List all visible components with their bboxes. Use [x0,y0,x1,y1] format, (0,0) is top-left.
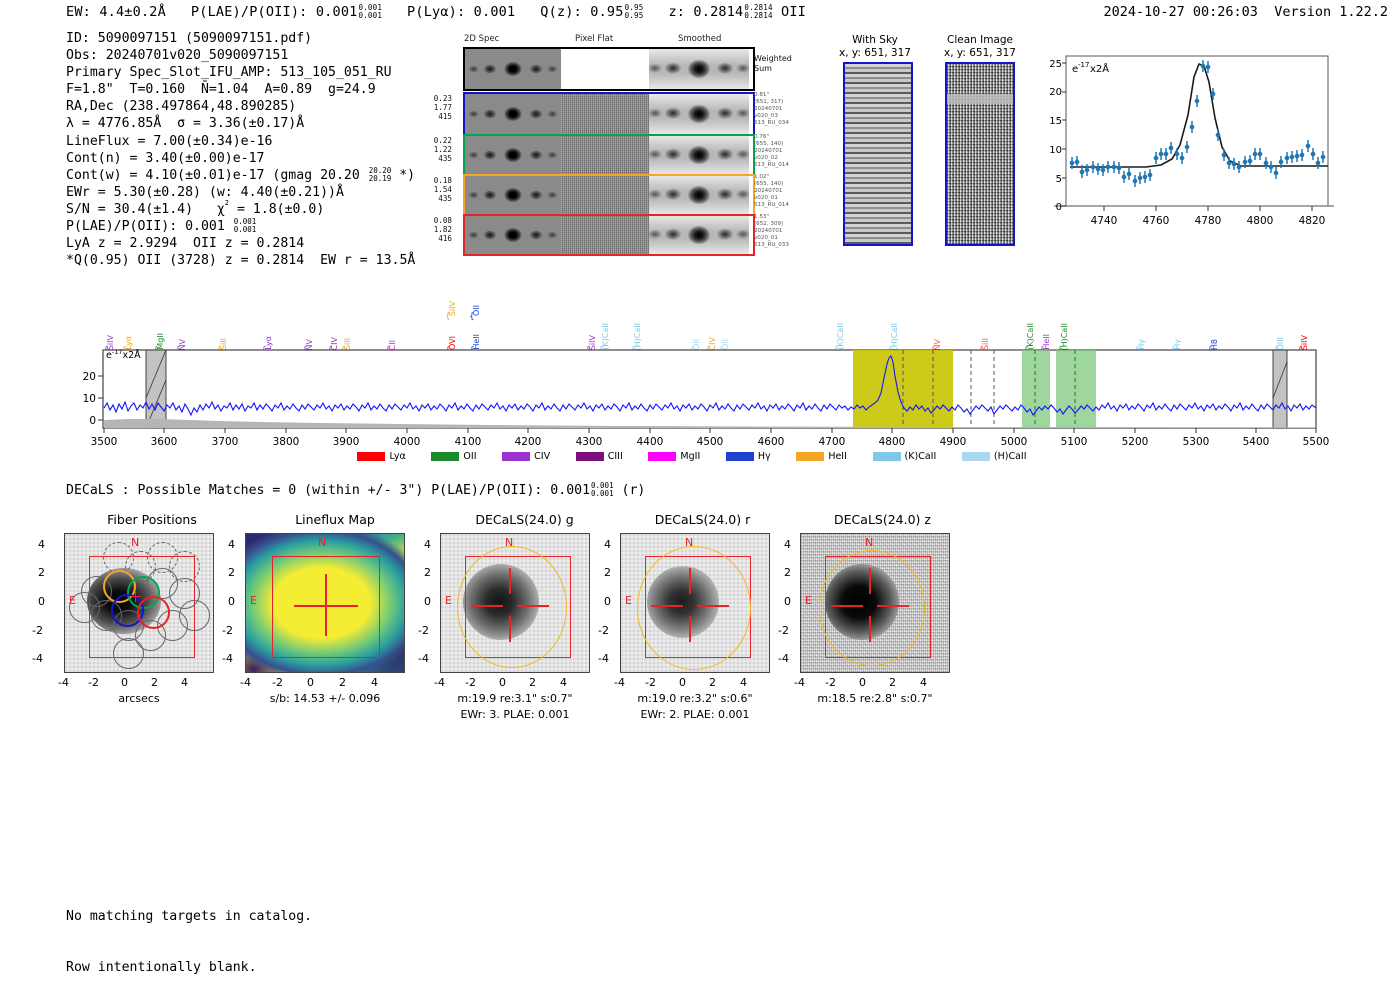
version-label: Version 1.22.2 [1274,4,1388,20]
x-tick: 2 [529,676,536,689]
fiber-circle [179,600,210,631]
info-lambda: λ = 4776.85Å σ = 3.36(±0.17)Å [66,115,415,132]
fiber-left-metrics: 0.08 1.82 416 [412,216,452,244]
y-tick: -2 [778,624,789,637]
legend-item: CIII [576,451,623,462]
legend-item: (K)CaII [873,451,937,462]
fiber-smoothed [649,216,749,254]
panel-caption: m:19.9 re:3.1" s:0.7" [435,692,595,705]
legend-item: HeII [796,451,847,462]
z-label: z: [668,4,685,20]
panel-title-lineflux-map: Lineflux Map [245,512,425,527]
north-label: N [865,536,873,549]
ew-value: 4.4±0.2Å [99,4,166,20]
qz-value: 0.95 [590,4,623,20]
full-spectrum-section: SiIV { Lyα { MgII { NV { SiII { Lyα { NV… [0,270,1400,470]
legend-swatch-oii [431,452,459,461]
x-tick: -2 [825,676,836,689]
east-label: E [250,594,257,607]
fiber-circle-selected-red [137,596,170,629]
weighted-sum-2d-spec [465,49,561,89]
legend-item: Lyα [357,451,405,462]
svg-text:0: 0 [89,415,96,427]
x-tick: 2 [339,676,346,689]
legend-swatch-kcaii [873,452,901,461]
panel-title-decals-r: DECaLS(24.0) r [610,512,795,527]
panel-caption: s/b: 14.53 +/- 0.096 [245,692,405,705]
line-fit-svg: 25 20 15 10 5 0 47404760 47804800 4820 e… [1036,52,1336,242]
y-tick: 0 [424,595,431,608]
x-tick: 2 [709,676,716,689]
center-crosshair-top [869,568,871,594]
legend-swatch-civ [502,452,530,461]
info-obs: Obs: 20240701v020_5090097151 [66,47,415,64]
x-tick: -2 [645,676,656,689]
svg-text:4760: 4760 [1143,215,1170,227]
y-tick: -4 [598,652,609,665]
plya-value: 0.001 [474,4,516,20]
aperture-ellipse [637,546,751,670]
plya-label: P(Lyα): [407,4,465,20]
x-tick: -4 [58,676,69,689]
panel-caption-secondary: EWr: 2. PLAE: 0.001 [615,708,775,721]
fiber-left-metrics: 0.22 1.22 435 [412,136,452,164]
clean-image-cutout [945,62,1015,246]
fiber-pixel-flat [561,94,649,134]
y-tick: -2 [418,624,429,637]
info-q-solution: *Q(0.95) OII (3728) z = 0.2814 EW r = 13… [66,252,415,269]
north-label: N [505,536,513,549]
x-tick: -4 [794,676,805,689]
x-tick: -2 [272,676,283,689]
fiber-row [463,92,755,136]
fiber-smoothed [649,176,749,214]
fiber-pixel-flat [561,216,649,254]
aperture-ellipse [819,550,925,666]
x-tick: 2 [889,676,896,689]
weighted-sum-label: Weighted Sum [754,54,814,74]
center-crosshair-bottom [689,616,691,642]
info-lineflux: LineFlux = 7.00(±0.34)e-16 [66,133,415,150]
z-species: OII [781,4,806,20]
emission-line-labels: SiIV { Lyα { MgII { NV { SiII { Lyα { NV… [0,270,1400,356]
qz-lo: 0.95 [625,12,644,20]
svg-text:4820: 4820 [1299,215,1326,227]
fiber-row [463,214,755,256]
cont-w-pre: Cont(w) = 4.10(±0.01)e-17 (gmag 20.20 [66,168,368,183]
panel-caption-secondary: EWr: 3. PLAE: 0.001 [435,708,595,721]
panel-title-decals-g: DECaLS(24.0) g [432,512,617,527]
east-label: E [805,594,812,607]
decals-g-image[interactable]: N E [440,533,590,673]
with-sky-title: With Sky x, y: 651, 317 [820,34,930,59]
col-header-2d-spec: 2D Spec [464,34,499,44]
legend-item: MgII [648,451,700,462]
info-redshifts: LyA z = 2.9294 OII z = 0.2814 [66,235,415,252]
fiber-left-metrics: 0.18 1.54 435 [412,176,452,204]
fiber-right-metadata: 1.02" (655, 140) 20240701 v020_01 513_RU… [754,174,806,209]
center-crosshair-left [471,605,503,607]
timestamp: 2024-10-27 00:26:03 [1104,4,1258,20]
y-tick: -4 [778,652,789,665]
legend-swatch-ciii [576,452,604,461]
svg-text:5: 5 [1056,174,1062,185]
center-crosshair-v [135,592,136,602]
y-tick: -2 [222,624,233,637]
panel-title-decals-z: DECaLS(24.0) z [790,512,975,527]
north-label: N [685,536,693,549]
fiber-right-metadata: 1.53" (652, 309) 20240701 v020_01 513_RU… [754,214,806,249]
x-tick: 4 [181,676,188,689]
legend-swatch-lya [357,452,385,461]
y-tick: 2 [228,566,235,579]
with-sky-cutout [843,62,913,246]
info-plae-lo: 0.001 [234,226,257,234]
x-tick: 0 [499,676,506,689]
plae-label: P(LAE)/P(OII): [191,4,308,20]
footer-line-1: No matching targets in catalog. [66,908,312,925]
decals-z-image[interactable]: N E [800,533,950,673]
x-tick: 0 [679,676,686,689]
x-tick: 0 [859,676,866,689]
fiber-right-metadata: 0.81" (651, 317) 20240701 v020_03 513_RU… [754,92,806,127]
y-tick: -4 [32,652,43,665]
weighted-sum-row [463,47,755,91]
legend-item: (H)CaII [962,451,1027,462]
x-tick: 4 [371,676,378,689]
sn-pre: S/N = 30.4(±1.4) χ [66,202,225,217]
info-plae-pre: P(LAE)/P(OII): 0.001 [66,219,233,234]
y-tick: 2 [38,566,45,579]
info-cont-w: Cont(w) = 4.10(±0.01)e-17 (gmag 20.20 20… [66,167,415,184]
line-brace: { [469,312,475,322]
clean-image-band [947,94,1013,104]
y-tick: 2 [784,566,791,579]
x-tick: 0 [121,676,128,689]
svg-text:10: 10 [83,393,96,405]
east-label: E [625,594,632,607]
y-tick: 4 [604,538,611,551]
decals-r-image[interactable]: N E [620,533,770,673]
footer-text: No matching targets in catalog. Row inte… [66,874,312,994]
fiber-row [463,134,755,176]
center-crosshair-right [517,605,549,607]
col-header-smoothed: Smoothed [678,34,721,44]
fiber-2d-spec [465,216,561,254]
y-tick: 0 [38,595,45,608]
info-sn: S/N = 30.4(±1.4) χ2 = 1.8(±0.0) [66,201,415,218]
header-summary-line: EW: 4.4±0.2Å P(LAE)/P(OII): 0.0010.0010.… [66,4,806,20]
svg-text:20: 20 [1049,87,1062,98]
full-spectrum-chart: 01020 [60,348,1340,458]
fiber-2d-spec [465,94,561,134]
svg-text:x2Å: x2Å [1090,62,1109,75]
y-tick: -2 [32,624,43,637]
clean-image-title: Clean Image x, y: 651, 317 [920,34,1040,59]
spectrum-flux-unit-annotation: e-17x2Å [106,348,141,361]
z-value: 0.2814 [693,4,743,20]
center-crosshair-bottom [869,616,871,642]
svg-text:-17: -17 [1078,61,1089,69]
aperture-ellipse [457,546,567,668]
weighted-sum-pixel-flat [561,49,649,89]
center-crosshair-left [831,605,863,607]
panel-title-fiber-positions: Fiber Positions [62,512,242,527]
info-ewr: EWr = 5.30(±0.28) (w: 4.40(±0.21))Å [66,184,415,201]
center-crosshair-top [509,568,511,594]
detection-info-block: ID: 5090097151 (5090097151.pdf) Obs: 202… [66,30,415,269]
footer-line-2: Row intentionally blank. [66,959,312,976]
north-label: N [318,536,326,549]
info-id: ID: 5090097151 (5090097151.pdf) [66,30,415,47]
col-header-pixel-flat: Pixel Flat [575,34,613,44]
center-crosshair-v [325,574,327,636]
svg-text:4780: 4780 [1195,215,1222,227]
info-plae: P(LAE)/P(OII): 0.001 0.0010.001 [66,218,415,235]
legend-swatch-heii [796,452,824,461]
cont-w-lo: 20.19 [369,175,392,183]
2d-spectra-section: 2D Spec Pixel Flat Smoothed Weighted Sum… [420,34,770,256]
svg-text:15: 15 [1049,116,1062,127]
fiber-left-metrics: 0.23 1.77 415 [412,94,452,122]
spectrum-legend: Lyα OII CIV CIII MgII Hγ HeII (K)CaII (H… [0,446,1400,465]
info-slot: Primary Spec_Slot_IFU_AMP: 513_105_051_R… [66,64,415,81]
line-fit-inset-chart: 25 20 15 10 5 0 47404760 47804800 4820 e… [1036,52,1336,246]
y-tick: 0 [604,595,611,608]
x-tick: 4 [560,676,567,689]
center-crosshair-right [697,605,729,607]
chi-squared-exponent: 2 [225,200,229,207]
plae-value: 0.001 [316,4,358,20]
header-timestamp-block: 2024-10-27 00:26:03 Version 1.22.2 [1104,4,1389,20]
fiber-smoothed [649,136,749,174]
fiber-right-metadata: 0.76" (655, 140) 20240701 v020_02 513_RU… [754,134,806,169]
y-tick: 2 [604,566,611,579]
fiber-positions-image[interactable]: N E [64,533,214,673]
legend-item: Hγ [726,451,771,462]
weighted-sum-smoothed [649,49,749,89]
svg-text:25: 25 [1049,59,1062,70]
center-crosshair-right [877,605,909,607]
svg-text:4740: 4740 [1091,215,1118,227]
y-tick: 4 [784,538,791,551]
decals-header: DECaLS : Possible Matches = 0 (within +/… [66,482,645,498]
plae-lo: 0.001 [358,12,382,20]
x-tick: -2 [88,676,99,689]
x-tick: 4 [920,676,927,689]
panel-caption: m:19.0 re:3.2" s:0.6" [615,692,775,705]
center-crosshair-left [651,605,683,607]
info-radec: RA,Dec (238.497864,48.890285) [66,98,415,115]
x-tick: -4 [240,676,251,689]
east-label: E [69,594,76,607]
x-tick: -2 [465,676,476,689]
fiber-pixel-flat [561,176,649,214]
panel-caption: arcsecs [64,692,214,705]
x-tick: 2 [151,676,158,689]
svg-text:0: 0 [1056,202,1062,213]
line-brace: { [445,312,451,322]
center-crosshair-top [689,568,691,594]
legend-item: OII [431,451,476,462]
fiber-pixel-flat [561,136,649,174]
fiber-2d-spec [465,136,561,174]
y-tick: 0 [784,595,791,608]
y-tick: 4 [424,538,431,551]
info-cont-n: Cont(n) = 3.40(±0.00)e-17 [66,150,415,167]
lineflux-map-image[interactable]: N E [245,533,405,673]
sn-post: = 1.8(±0.0) [229,202,324,217]
info-seeing: F=1.8" T=0.160 N̄=1.04 A=0.89 g=24.9 [66,81,415,98]
legend-swatch-hcaii [962,452,990,461]
z-lo: 0.2814 [744,12,772,20]
svg-text:20: 20 [83,371,96,383]
fiber-row [463,174,755,216]
panel-caption: m:18.5 re:2.8" s:0.7" [795,692,955,705]
fiber-circle [113,638,144,669]
x-tick: -4 [614,676,625,689]
x-tick: 4 [740,676,747,689]
y-tick: -4 [418,652,429,665]
fiber-smoothed [649,94,749,134]
x-tick: 0 [307,676,314,689]
y-tick: 4 [228,538,235,551]
center-crosshair-bottom [509,616,511,642]
legend-swatch-hgamma [726,452,754,461]
qz-label: Q(z): [540,4,582,20]
x-tick: -4 [434,676,445,689]
svg-text:10: 10 [1049,145,1062,156]
y-tick: -2 [598,624,609,637]
y-tick: 2 [424,566,431,579]
legend-swatch-mgii [648,452,676,461]
north-label: N [131,536,139,549]
ew-label: EW: [66,4,91,20]
east-label: E [445,594,452,607]
legend-item: CIV [502,451,550,462]
fiber-2d-spec [465,176,561,214]
y-tick: -4 [222,652,233,665]
y-tick: 4 [38,538,45,551]
svg-text:4800: 4800 [1247,215,1274,227]
y-tick: 0 [228,595,235,608]
